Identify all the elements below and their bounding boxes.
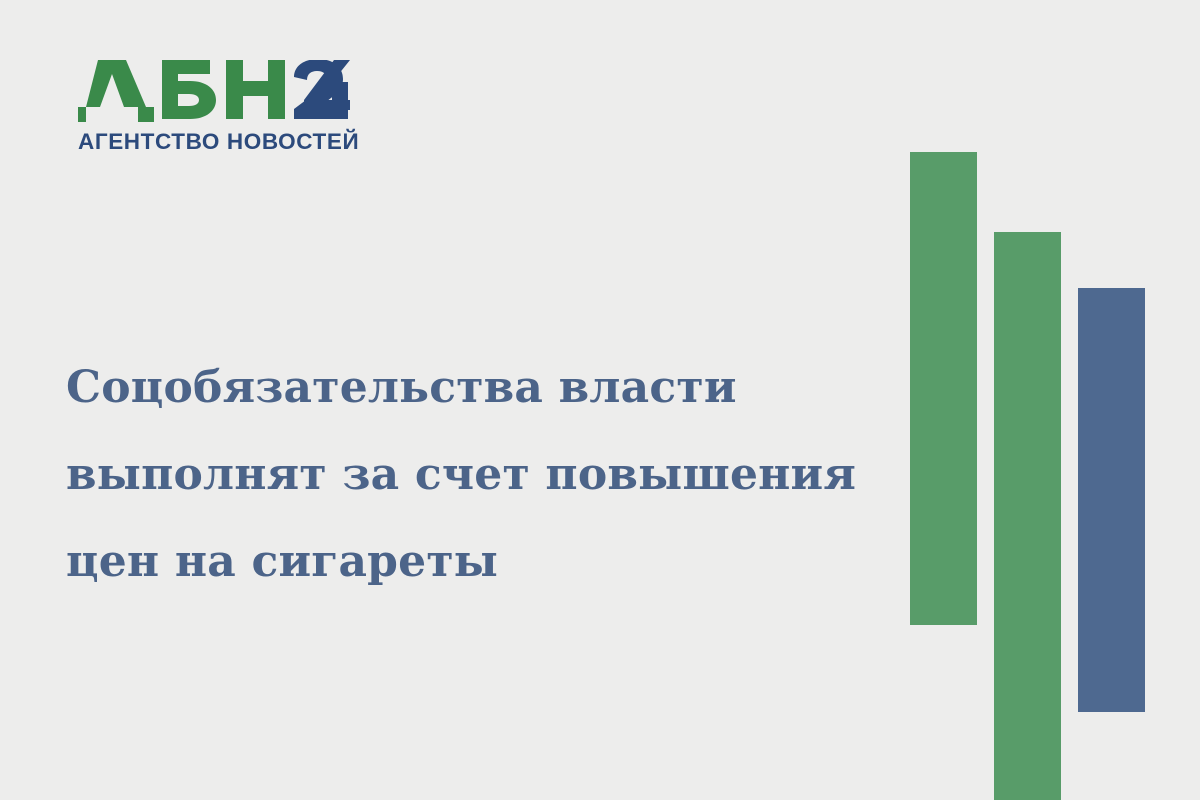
logo-tagline: АГЕНТСТВО НОВОСТЕЙ — [78, 131, 378, 154]
logo-wordmark-icon — [78, 60, 350, 122]
chart-bar-3 — [1078, 288, 1145, 712]
chart-bar-2 — [994, 232, 1061, 800]
headline-line-1: Соцобязательства власти — [66, 344, 886, 431]
headline: Соцобязательства власти выполнят за счет… — [66, 344, 886, 605]
abn24-logo[interactable]: АГЕНТСТВО НОВОСТЕЙ — [78, 60, 378, 160]
news-card: АГЕНТСТВО НОВОСТЕЙ Соцобязательства влас… — [0, 0, 1200, 800]
headline-line-3: цен на сигареты — [66, 518, 886, 605]
headline-line-2: выполнят за счет повышения — [66, 431, 886, 518]
chart-bar-1 — [910, 152, 977, 625]
